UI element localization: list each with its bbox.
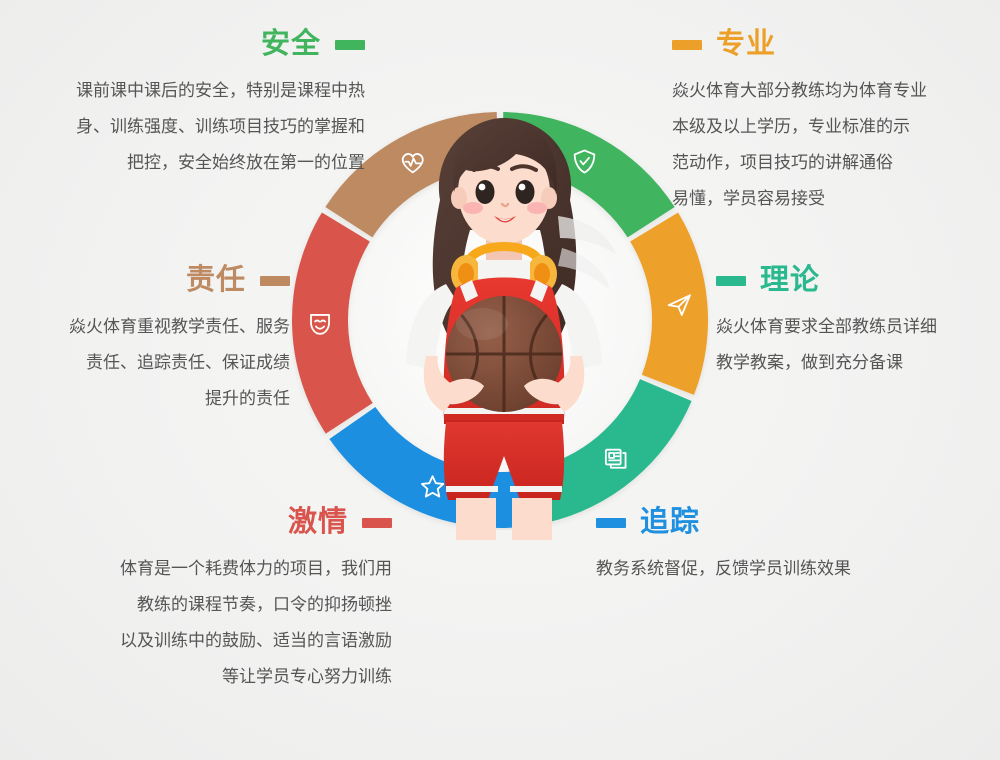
feature-text-theory: 焱火体育要求全部教练员详细 教学教案，做到充分备课 [716,309,996,381]
feature-block-passion: 激情 体育是一个耗费体力的项目，我们用 教练的课程节奏，口令的抑扬顿挫 以及训练… [52,508,392,695]
feature-heading-safety: 安全 [10,30,365,59]
feature-text-profession: 焱火体育大部分教练均为体育专业 本级及以上学历，专业标准的示 范动作，项目技巧的… [672,73,992,217]
feature-title-duty: 责任 [186,266,246,295]
feature-block-profession: 专业 焱火体育大部分教练均为体育专业 本级及以上学历，专业标准的示 范动作，项目… [672,30,992,217]
heading-dash-tracking [596,518,626,528]
feature-text-duty: 焱火体育重视教学责任、服务 责任、追踪责任、保证成绩 提升的责任 [10,309,290,417]
feature-title-safety: 安全 [261,30,321,59]
feature-block-tracking: 追踪 教务系统督促，反馈学员训练效果 [596,508,926,587]
feature-block-theory: 理论 焱火体育要求全部教练员详细 教学教案，做到充分备课 [716,266,996,381]
heading-dash-profession [672,40,702,50]
feature-text-tracking: 教务系统督促，反馈学员训练效果 [596,551,926,587]
feature-title-profession: 专业 [716,30,776,59]
feature-heading-passion: 激情 [52,508,392,537]
feature-block-duty: 责任 焱火体育重视教学责任、服务 责任、追踪责任、保证成绩 提升的责任 [10,266,290,417]
feature-title-theory: 理论 [760,266,820,295]
heading-dash-safety [335,40,365,50]
feature-title-tracking: 追踪 [640,508,700,537]
feature-heading-theory: 理论 [716,266,996,295]
heading-dash-theory [716,276,746,286]
heading-dash-passion [362,518,392,528]
feature-text-safety: 课前课中课后的安全，特别是课程中热 身、训练强度、训练项目技巧的掌握和 把控，安… [10,73,365,181]
infographic-canvas: W [0,0,1000,760]
feature-heading-duty: 责任 [10,266,290,295]
heading-dash-duty [260,276,290,286]
feature-heading-profession: 专业 [672,30,992,59]
feature-heading-tracking: 追踪 [596,508,926,537]
feature-title-passion: 激情 [288,508,348,537]
feature-block-safety: 安全 课前课中课后的安全，特别是课程中热 身、训练强度、训练项目技巧的掌握和 把… [10,30,365,181]
feature-text-passion: 体育是一个耗费体力的项目，我们用 教练的课程节奏，口令的抑扬顿挫 以及训练中的鼓… [52,551,392,695]
